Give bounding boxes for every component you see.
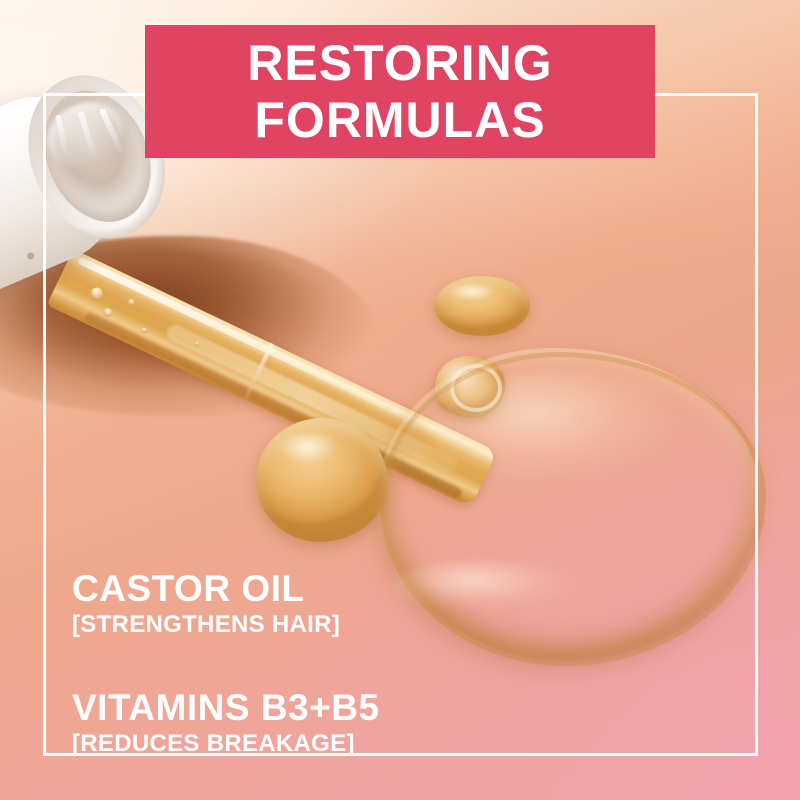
oil-droplet-small-highlight	[448, 284, 504, 304]
claim-vitamins: VITAMINS B3+B5 [REDUCES BREAKAGE]	[72, 687, 472, 759]
poster-canvas: RESTORING FORMULAS CASTOR OIL [STRENGTHE…	[0, 0, 800, 800]
ingredient-claims: CASTOR OIL [STRENGTHENS HAIR] VITAMINS B…	[72, 568, 472, 759]
claim-subtitle: [STRENGTHENS HAIR]	[72, 610, 472, 640]
claim-title: VITAMINS B3+B5	[72, 687, 472, 729]
claim-castor-oil: CASTOR OIL [STRENGTHENS HAIR]	[72, 568, 472, 640]
oil-bubble	[140, 326, 148, 334]
claim-subtitle: [REDUCES BREAKAGE]	[72, 729, 472, 759]
headline-line-1: RESTORING	[247, 35, 552, 92]
claim-title: CASTOR OIL	[72, 568, 472, 610]
oil-pool-sheen	[430, 372, 690, 492]
headline-banner: RESTORING FORMULAS	[145, 25, 655, 158]
oil-droplet-medium-highlight	[276, 432, 350, 472]
headline-line-2: FORMULAS	[254, 92, 545, 149]
